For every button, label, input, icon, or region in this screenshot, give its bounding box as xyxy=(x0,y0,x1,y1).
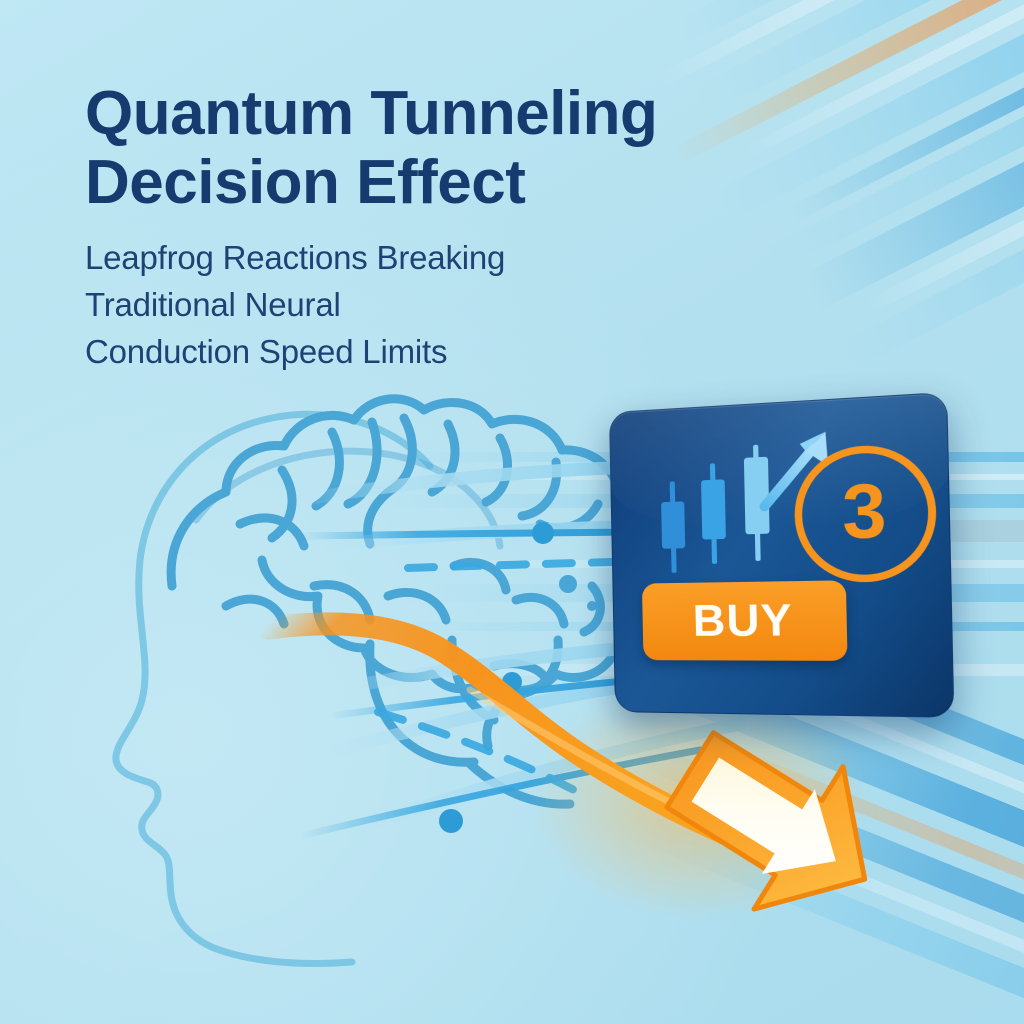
badge-number: 3 xyxy=(841,473,887,551)
buy-button[interactable]: BUY xyxy=(642,580,848,661)
candle-body xyxy=(661,501,685,548)
page-subtitle: Leapfrog Reactions Breaking Traditional … xyxy=(85,234,805,376)
trading-panel[interactable]: 3 BUY xyxy=(609,392,955,718)
candle-body xyxy=(701,479,726,539)
poster-canvas: 3 BUY Quantum Tunneling Decision Effect … xyxy=(0,0,1024,1024)
buy-button-label: BUY xyxy=(692,595,793,647)
page-title: Quantum Tunneling Decision Effect xyxy=(85,80,805,218)
headline-block: Quantum Tunneling Decision Effect Leapfr… xyxy=(85,80,805,375)
